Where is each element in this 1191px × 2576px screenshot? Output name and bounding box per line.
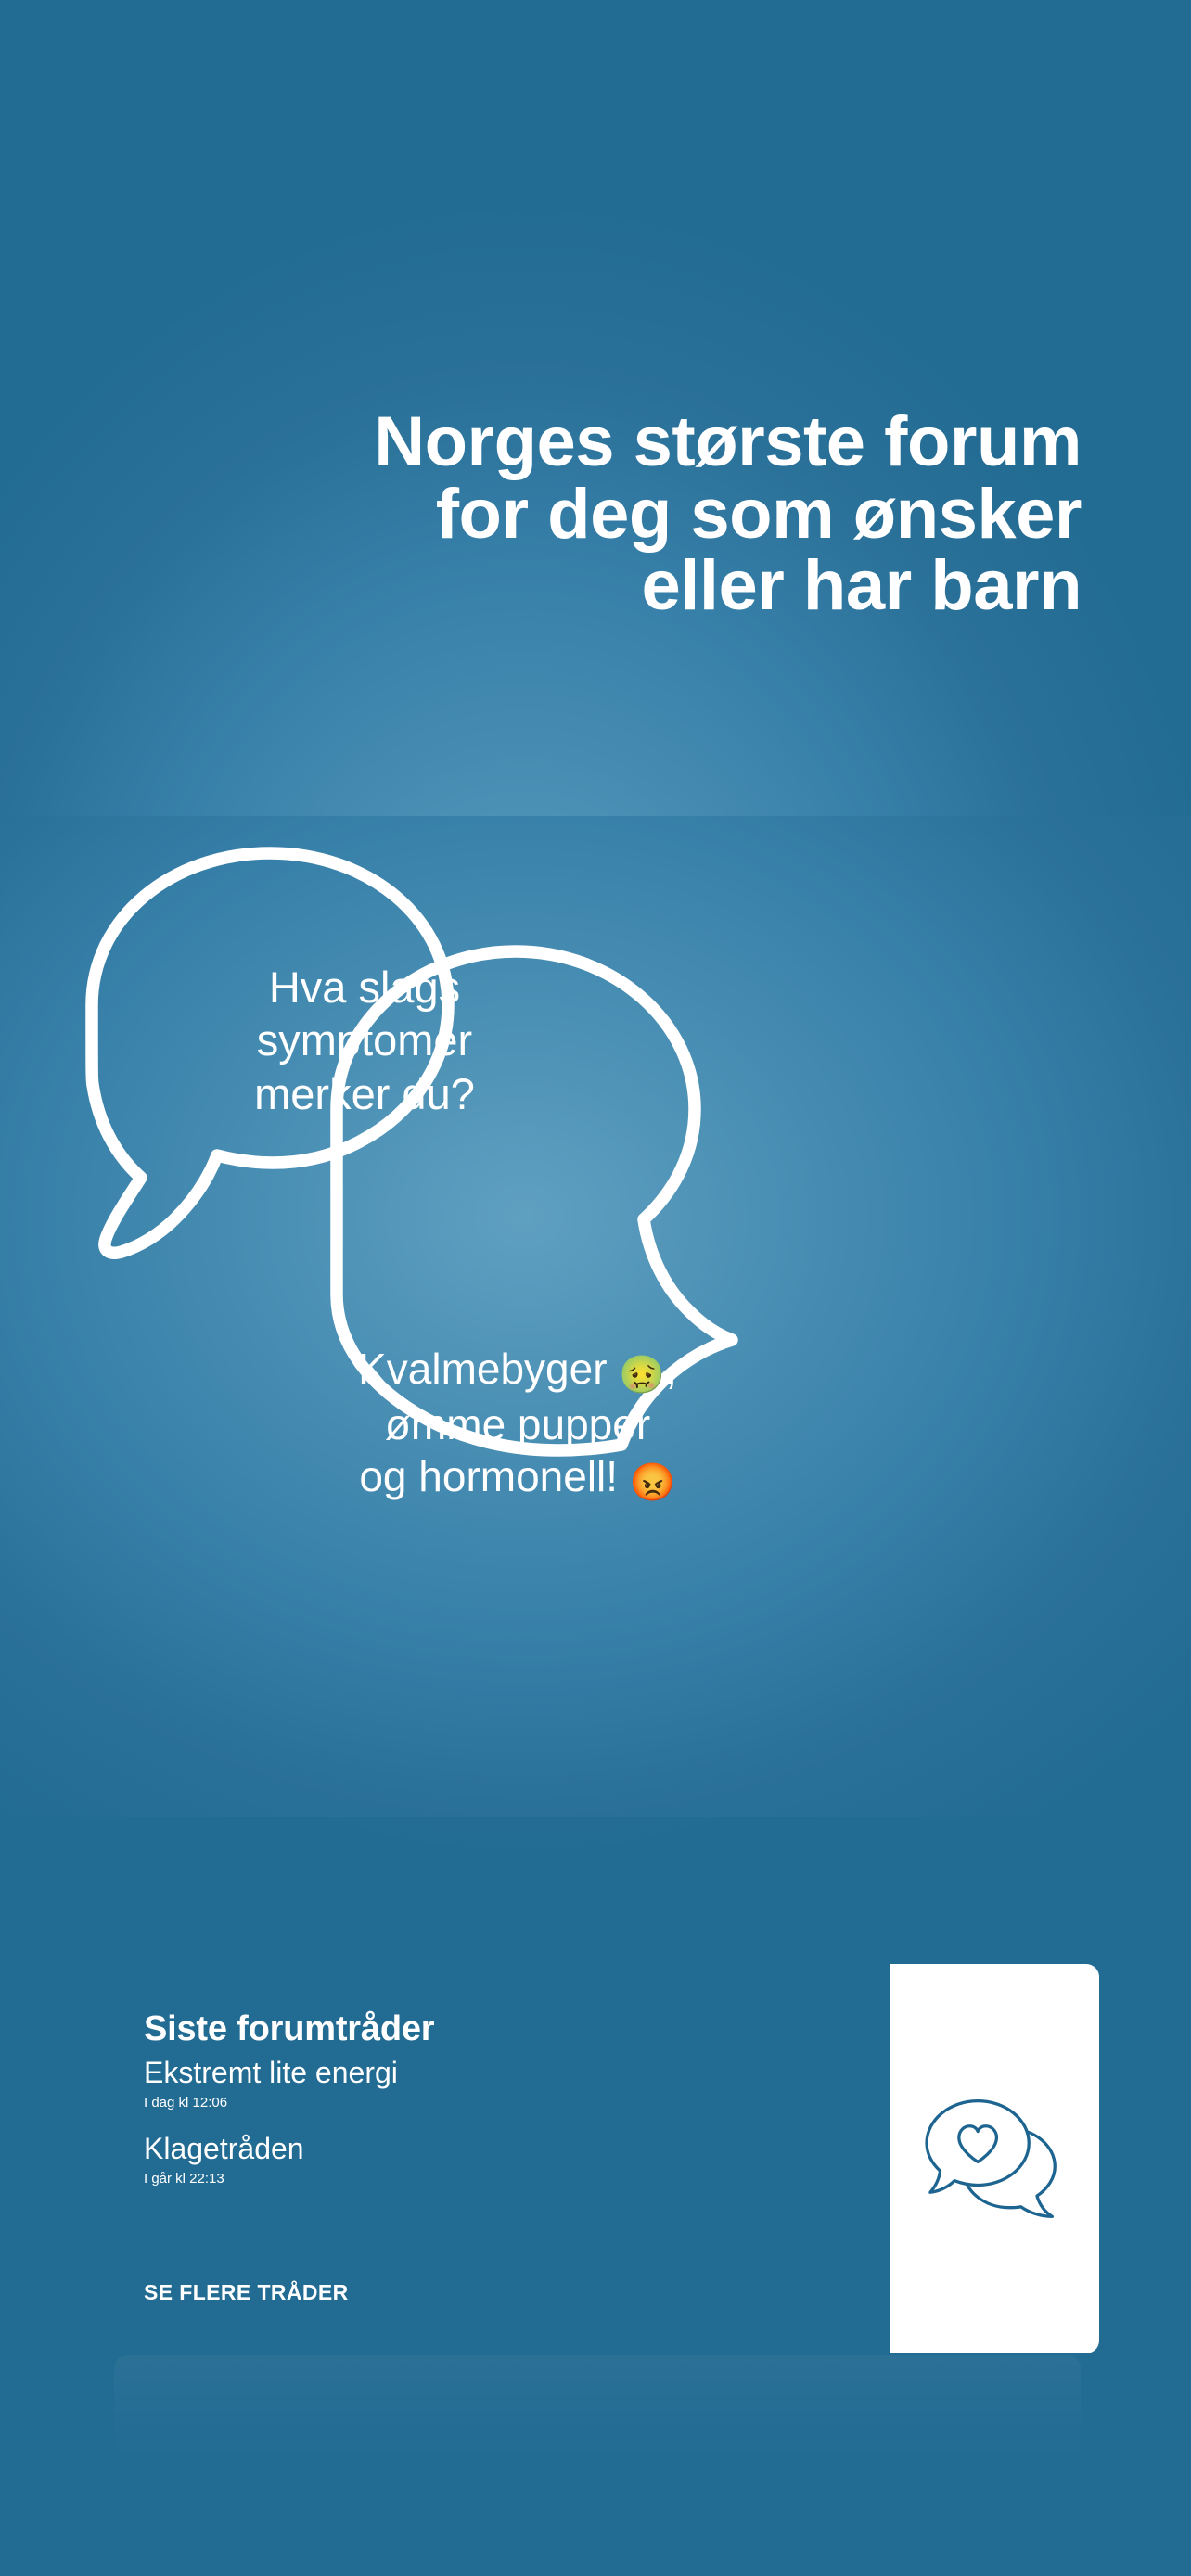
two-speech-bubbles-with-heart-icon bbox=[923, 2092, 1067, 2226]
answer-line-2: ømme pupper bbox=[267, 1398, 768, 1450]
answer-line-1: Kvalmebyger 🤢, bbox=[267, 1343, 768, 1398]
question-line-3: merker du? bbox=[184, 1067, 545, 1120]
conversation-bubbles-final bbox=[0, 816, 1191, 1817]
thread-timestamp: I går kl 22:13 bbox=[144, 2169, 890, 2188]
answer-bubble-text: Kvalmebyger 🤢, ømme pupper og hormonell!… bbox=[267, 1343, 768, 1506]
answer-line-1-suffix: , bbox=[665, 1345, 677, 1393]
answer-line-3: og hormonell! 😡 bbox=[267, 1450, 768, 1506]
pouting-face-emoji: 😡 bbox=[630, 1462, 676, 1503]
question-bubble-text: Hva slags symptomer merker du? bbox=[184, 961, 545, 1120]
list-item[interactable]: Klagetråden I går kl 22:13 bbox=[144, 2131, 890, 2188]
nauseated-face-emoji: 🤢 bbox=[619, 1355, 665, 1396]
card-title: Siste forumtråder bbox=[144, 2010, 890, 2049]
question-line-2: symptomer bbox=[184, 1014, 545, 1066]
card-stack-shadow bbox=[114, 2355, 1081, 2467]
thread-timestamp: I dag kl 12:06 bbox=[144, 2093, 890, 2112]
see-more-threads-link[interactable]: SE FLERE TRÅDER bbox=[144, 2280, 349, 2305]
answer-line-1-text: Kvalmebyger bbox=[358, 1345, 607, 1393]
question-line-1: Hva slags bbox=[184, 961, 545, 1014]
latest-threads-card[interactable]: Siste forumtråder Ekstremt lite energi I… bbox=[97, 1964, 1099, 2353]
card-body: Siste forumtråder Ekstremt lite energi I… bbox=[97, 1964, 890, 2353]
thread-title[interactable]: Klagetråden bbox=[144, 2131, 890, 2167]
answer-line-3-text: og hormonell! bbox=[359, 1452, 618, 1500]
card-icon-panel bbox=[890, 1964, 1099, 2353]
list-item[interactable]: Ekstremt lite energi I dag kl 12:06 bbox=[144, 2055, 890, 2112]
thread-title[interactable]: Ekstremt lite energi bbox=[144, 2055, 890, 2091]
